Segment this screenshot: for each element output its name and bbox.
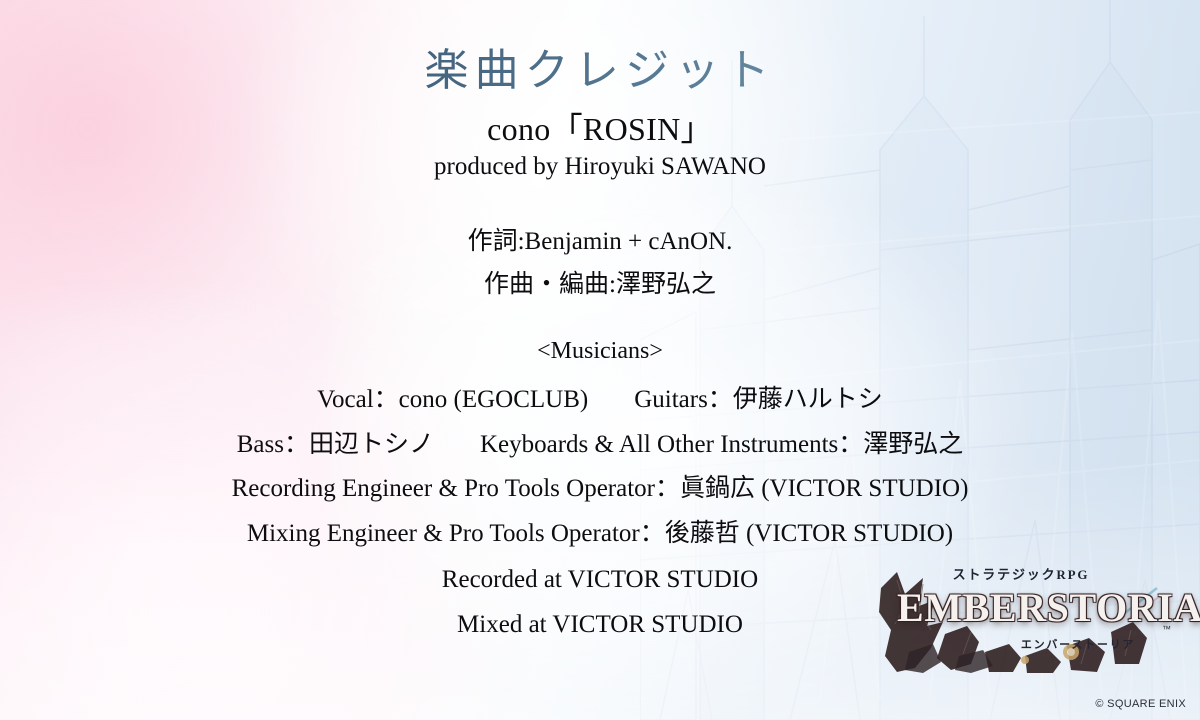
logo-tagline: ストラテジックRPG [875, 564, 1167, 583]
page-title: 楽曲クレジット [0, 34, 1200, 98]
game-logo: ストラテジックRPG EMBERSTORIA ™ エンバーストーリア [875, 560, 1175, 675]
musician-row: Recording Engineer & Pro Tools Operator：… [0, 467, 1200, 512]
musicians-block: Vocal：cono (EGOCLUB)Guitars：伊藤ハルトシ Bass：… [0, 378, 1200, 556]
logo-wordmark: EMBERSTORIA [897, 588, 1167, 628]
mixing-engineer: Mixing Engineer & Pro Tools Operator：後藤哲… [247, 520, 953, 547]
musician-vocal: Vocal：cono (EGOCLUB) [317, 386, 588, 413]
musician-keyboards: Keyboards & All Other Instruments：澤野弘之 [480, 431, 963, 458]
copyright-notice: © SQUARE ENIX [1095, 698, 1186, 710]
credit-line-composition: 作曲・編曲:澤野弘之 [0, 263, 1200, 306]
credit-line-lyrics: 作詞:Benjamin + cAnON. [0, 220, 1200, 263]
musician-guitars: Guitars：伊藤ハルトシ [634, 386, 883, 413]
song-heading-block: cono「ROSIN」 produced by Hiroyuki SAWANO [0, 112, 1200, 182]
logo-trademark: ™ [1162, 624, 1171, 634]
logo-subtitle: エンバーストーリア [995, 636, 1161, 652]
song-producer: produced by Hiroyuki SAWANO [0, 152, 1200, 182]
musicians-heading: <Musicians> [0, 338, 1200, 365]
recording-engineer: Recording Engineer & Pro Tools Operator：… [232, 475, 969, 502]
musician-row: Mixing Engineer & Pro Tools Operator：後藤哲… [0, 512, 1200, 557]
musician-row: Vocal：cono (EGOCLUB)Guitars：伊藤ハルトシ [0, 378, 1200, 423]
credits-screen: 楽曲クレジット cono「ROSIN」 produced by Hiroyuki… [0, 0, 1200, 720]
writing-credits-block: 作詞:Benjamin + cAnON. 作曲・編曲:澤野弘之 [0, 220, 1200, 306]
credits-content: 楽曲クレジット cono「ROSIN」 produced by Hiroyuki… [0, 0, 1200, 720]
song-title: cono「ROSIN」 [0, 112, 1200, 148]
musician-bass: Bass：田辺トシノ [237, 431, 434, 458]
musician-row: Bass：田辺トシノKeyboards & All Other Instrume… [0, 423, 1200, 468]
